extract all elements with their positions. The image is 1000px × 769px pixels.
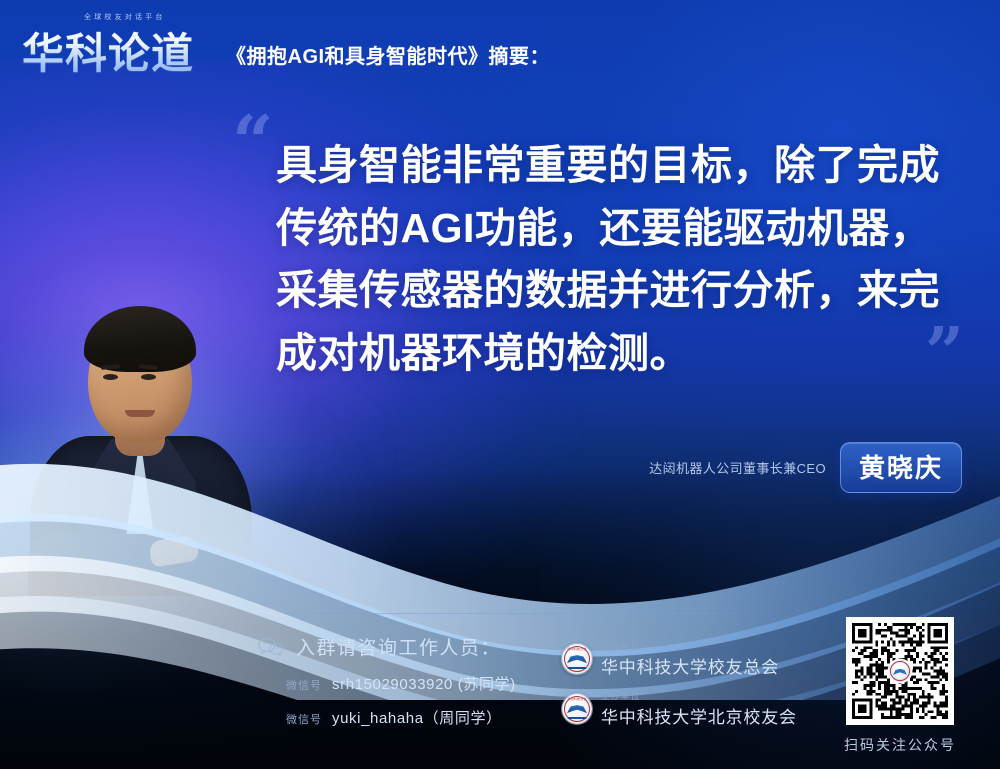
logo-wordmark: 华科论道 (22, 20, 194, 81)
contact-title: 入群请咨询工作人员： (296, 633, 501, 660)
footer: 入群请咨询工作人员： 微信号 srh15029033920 (苏同学) 微信号 … (0, 609, 1000, 769)
page-title: 《拥抱AGI和具身智能时代》摘要： (226, 40, 550, 69)
qr-center-logo-icon (889, 660, 911, 682)
qr-code[interactable] (846, 617, 954, 725)
quote-text: 具身智能非常重要的目标，除了完成传统的AGI功能，还要能驱动机器，采集传感器的数… (276, 134, 952, 385)
qr-caption: 扫码关注公众号 (832, 735, 968, 755)
header: 全球校友对话平台 华科论道 《拥抱AGI和具身智能时代》摘要： (0, 0, 1000, 100)
seal-top-text: 华中科技大学 (562, 697, 592, 701)
quote-block: “ 具身智能非常重要的目标，除了完成传统的AGI功能，还要能驱动机器，采集传感器… (228, 104, 958, 385)
university-seal-icon: 华中科技大学 (562, 644, 592, 674)
org-text: 主办单位 华中科技大学北京校友会 (601, 689, 797, 728)
portrait-mouth (125, 410, 155, 417)
organizations: 华中科技大学 指导单位 华中科技大学校友总会 华中科技大学 主办单位 (562, 639, 797, 739)
org-row: 华中科技大学 指导单位 华中科技大学校友总会 (562, 639, 797, 678)
org-row: 华中科技大学 主办单位 华中科技大学北京校友会 (562, 689, 797, 728)
wechat-icon (258, 637, 284, 657)
brand-logo: 全球校友对话平台 华科论道 (22, 8, 220, 76)
contact-label: 微信号 (286, 677, 322, 693)
org-kind: 指导单位 (601, 639, 779, 652)
speaker-role: 达闼机器人公司董事长兼CEO (649, 458, 826, 477)
org-text: 指导单位 华中科技大学校友总会 (601, 639, 779, 678)
contact-header: 入群请咨询工作人员： (258, 633, 516, 660)
poster-canvas: 全球校友对话平台 华科论道 《拥抱AGI和具身智能时代》摘要： (0, 0, 1000, 769)
qr-section: 扫码关注公众号 (832, 617, 968, 755)
contact-value[interactable]: srh15029033920 (苏同学) (332, 673, 516, 694)
quote-close-mark: ” (925, 319, 964, 387)
university-seal-icon: 华中科技大学 (562, 694, 592, 724)
contact-row: 微信号 yuki_hahaha（周同学） (286, 707, 516, 728)
contact-row: 微信号 srh15029033920 (苏同学) (286, 673, 516, 694)
attribution: 达闼机器人公司董事长兼CEO 黄晓庆 (649, 442, 962, 493)
org-kind: 主办单位 (601, 689, 797, 702)
speaker-name-badge: 黄晓庆 (840, 442, 962, 493)
contact-value[interactable]: yuki_hahaha（周同学） (332, 707, 502, 728)
contact-section: 入群请咨询工作人员： 微信号 srh15029033920 (苏同学) 微信号 … (258, 633, 516, 728)
portrait-eye-right (141, 374, 156, 380)
contact-label: 微信号 (286, 711, 322, 727)
quote-open-mark: “ (232, 106, 273, 178)
org-name: 华中科技大学北京校友会 (601, 703, 797, 728)
org-name: 华中科技大学校友总会 (601, 653, 779, 678)
seal-top-text: 华中科技大学 (562, 647, 592, 651)
footer-divider (278, 613, 778, 614)
portrait-eye-left (103, 374, 118, 380)
